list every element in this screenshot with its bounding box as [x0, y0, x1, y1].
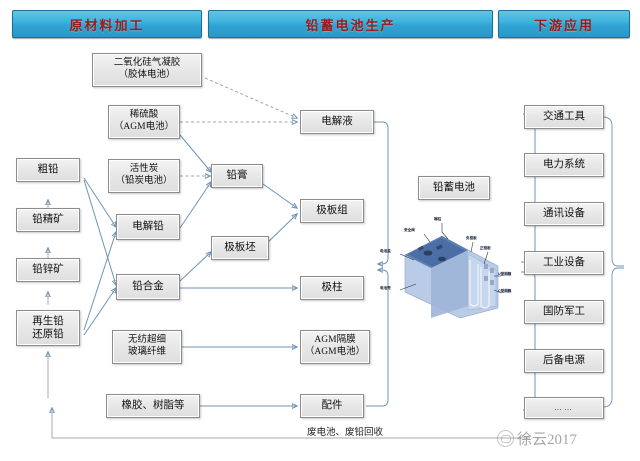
node-plate-group[interactable]: 极板组	[300, 199, 364, 223]
node-communication[interactable]: 通讯设备	[524, 202, 604, 226]
battery-label-battery-case: 电池壳	[380, 286, 391, 291]
node-rubber-resin[interactable]: 橡胶、树脂等	[106, 394, 200, 418]
node-power-system[interactable]: 电力系统	[524, 153, 604, 177]
watermark-text: 徐云2017	[517, 428, 577, 449]
node-transport[interactable]: 交通工具	[524, 105, 604, 129]
node-electrolyte[interactable]: 电解液	[300, 110, 374, 134]
node-lead-zinc-ore[interactable]: 铅锌矿	[16, 258, 80, 282]
battery-label-battery-cover: 电池盖	[380, 249, 391, 254]
battery-label-u-separator: U型隔膜	[498, 272, 511, 277]
node-dilute-sulfuric-acid[interactable]: 稀硫酸 （AGM电池）	[108, 105, 180, 139]
watermark-logo-icon	[497, 430, 514, 447]
node-plate-blank[interactable]: 极板坯	[211, 236, 269, 260]
node-recycled-lead[interactable]: 再生铅 还原铅	[16, 310, 80, 346]
node-agm-separator[interactable]: AGM隔膜 （AGM电池）	[300, 330, 370, 364]
node-backup-power[interactable]: 后备电源	[524, 349, 604, 373]
node-defense[interactable]: 国防军工	[524, 300, 604, 324]
battery-label-terminal: 端柱	[434, 217, 441, 222]
diagram-canvas: 原材料加工 铅蓄电池生产 下游应用	[0, 0, 640, 461]
node-silica-aerogel[interactable]: 二氧化硅气凝胶 （胶体电池）	[92, 53, 202, 87]
node-activated-carbon[interactable]: 活性炭 （铅炭电池）	[108, 159, 180, 193]
header-banner-raw-material: 原材料加工	[12, 10, 202, 38]
battery-label-safety-valve: 安全阀	[404, 228, 415, 233]
header-banner-downstream: 下游应用	[498, 10, 630, 38]
node-crude-lead[interactable]: 粗铅	[16, 158, 80, 182]
node-accessories[interactable]: 配件	[300, 394, 364, 418]
battery-label-c-separator: C型隔膜	[498, 289, 511, 294]
node-lead-paste[interactable]: 铅膏	[211, 164, 263, 188]
node-terminal-post[interactable]: 极柱	[300, 276, 364, 300]
node-glass-fiber[interactable]: 无纺超细 玻璃纤维	[112, 330, 182, 364]
battery-label-positive-plate: 正极板	[480, 246, 491, 251]
node-lead-acid-battery-title[interactable]: 铅蓄电池	[418, 176, 490, 200]
node-industrial[interactable]: 工业设备	[524, 251, 604, 275]
node-lead-concentrate[interactable]: 铅精矿	[16, 208, 80, 232]
watermark: 徐云2017	[497, 428, 577, 449]
node-lead-alloy[interactable]: 铅合金	[116, 274, 180, 300]
battery-label-negative-plate: 负极板	[466, 236, 477, 241]
recycle-loop-caption: 废电池、废铅回收	[280, 424, 410, 438]
node-others[interactable]: ……	[524, 397, 604, 419]
lead-acid-battery-illustration: 端柱 安全阀 电池盖 电池壳 负极板 正极板 U型隔膜 C型隔膜	[398, 220, 516, 318]
node-electrolytic-lead[interactable]: 电解铅	[116, 214, 180, 240]
header-banner-production: 铅蓄电池生产	[208, 10, 493, 38]
